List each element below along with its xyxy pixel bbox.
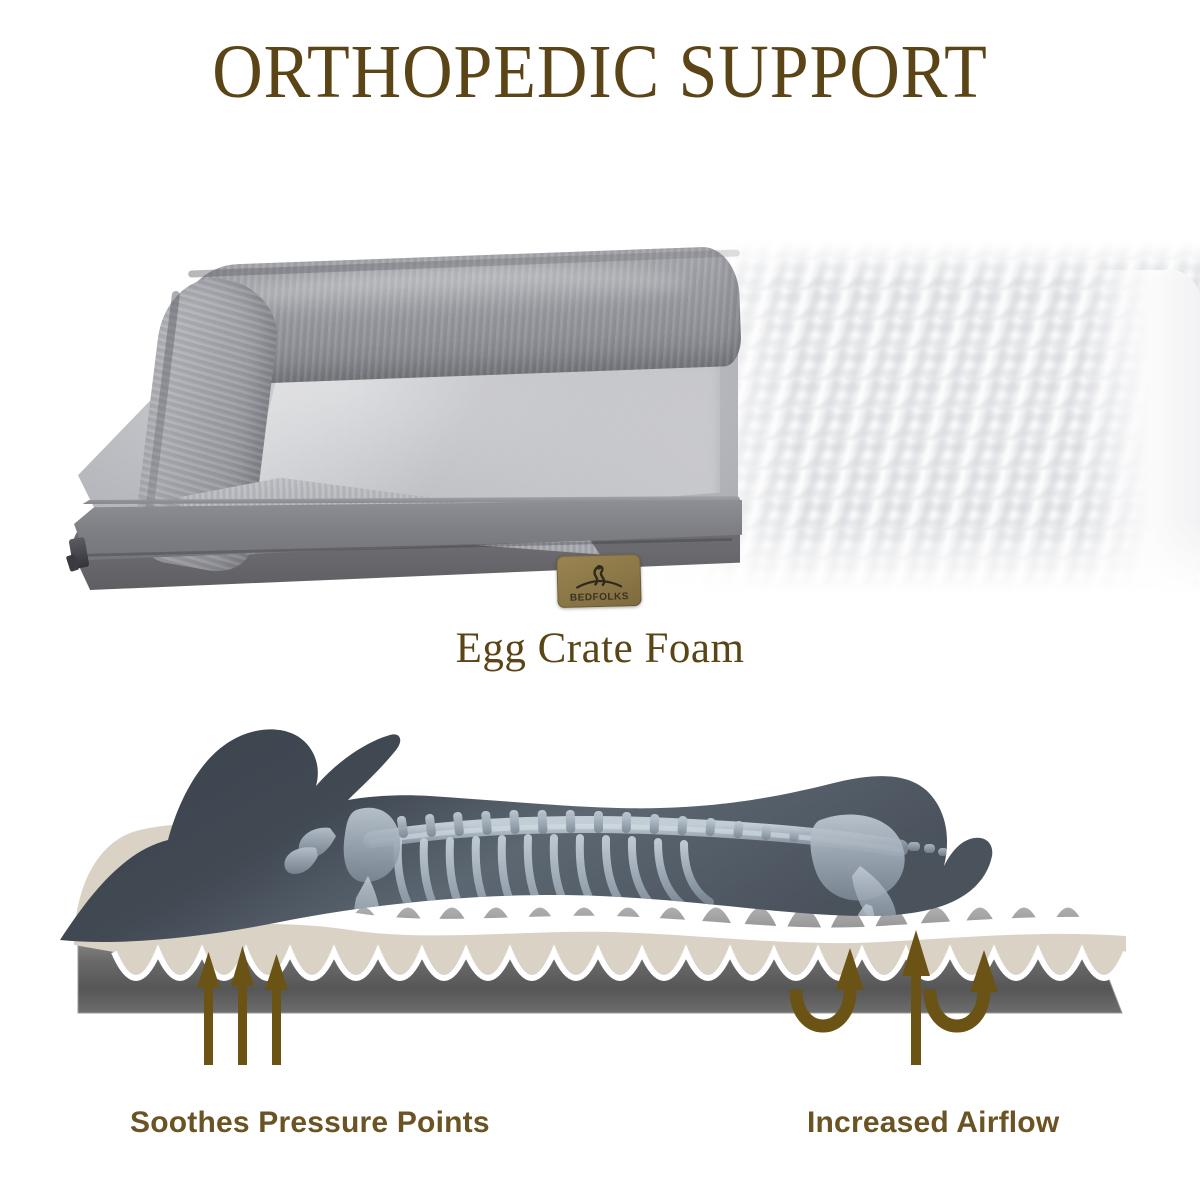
egg-crate-foam-caption: Egg Crate Foam — [0, 624, 1200, 673]
pressure-point-arrows — [197, 946, 288, 1065]
dog-bed — [60, 250, 760, 620]
product-infographic: ORTHOPEDIC SUPPORT — [0, 0, 1200, 1200]
page-title: ORTHOPEDIC SUPPORT — [48, 34, 1152, 110]
increased-airflow-label: Increased Airflow — [807, 1106, 1059, 1140]
cross-section-diagram — [0, 690, 1200, 1090]
soothes-pressure-points-label: Soothes Pressure Points — [130, 1106, 490, 1140]
product-photo: BEDFOLKS — [0, 240, 1200, 630]
brand-name: BEDFOLKS — [570, 592, 629, 604]
brand-logo-patch: BEDFOLKS — [556, 554, 641, 608]
dog-icon — [573, 564, 626, 593]
